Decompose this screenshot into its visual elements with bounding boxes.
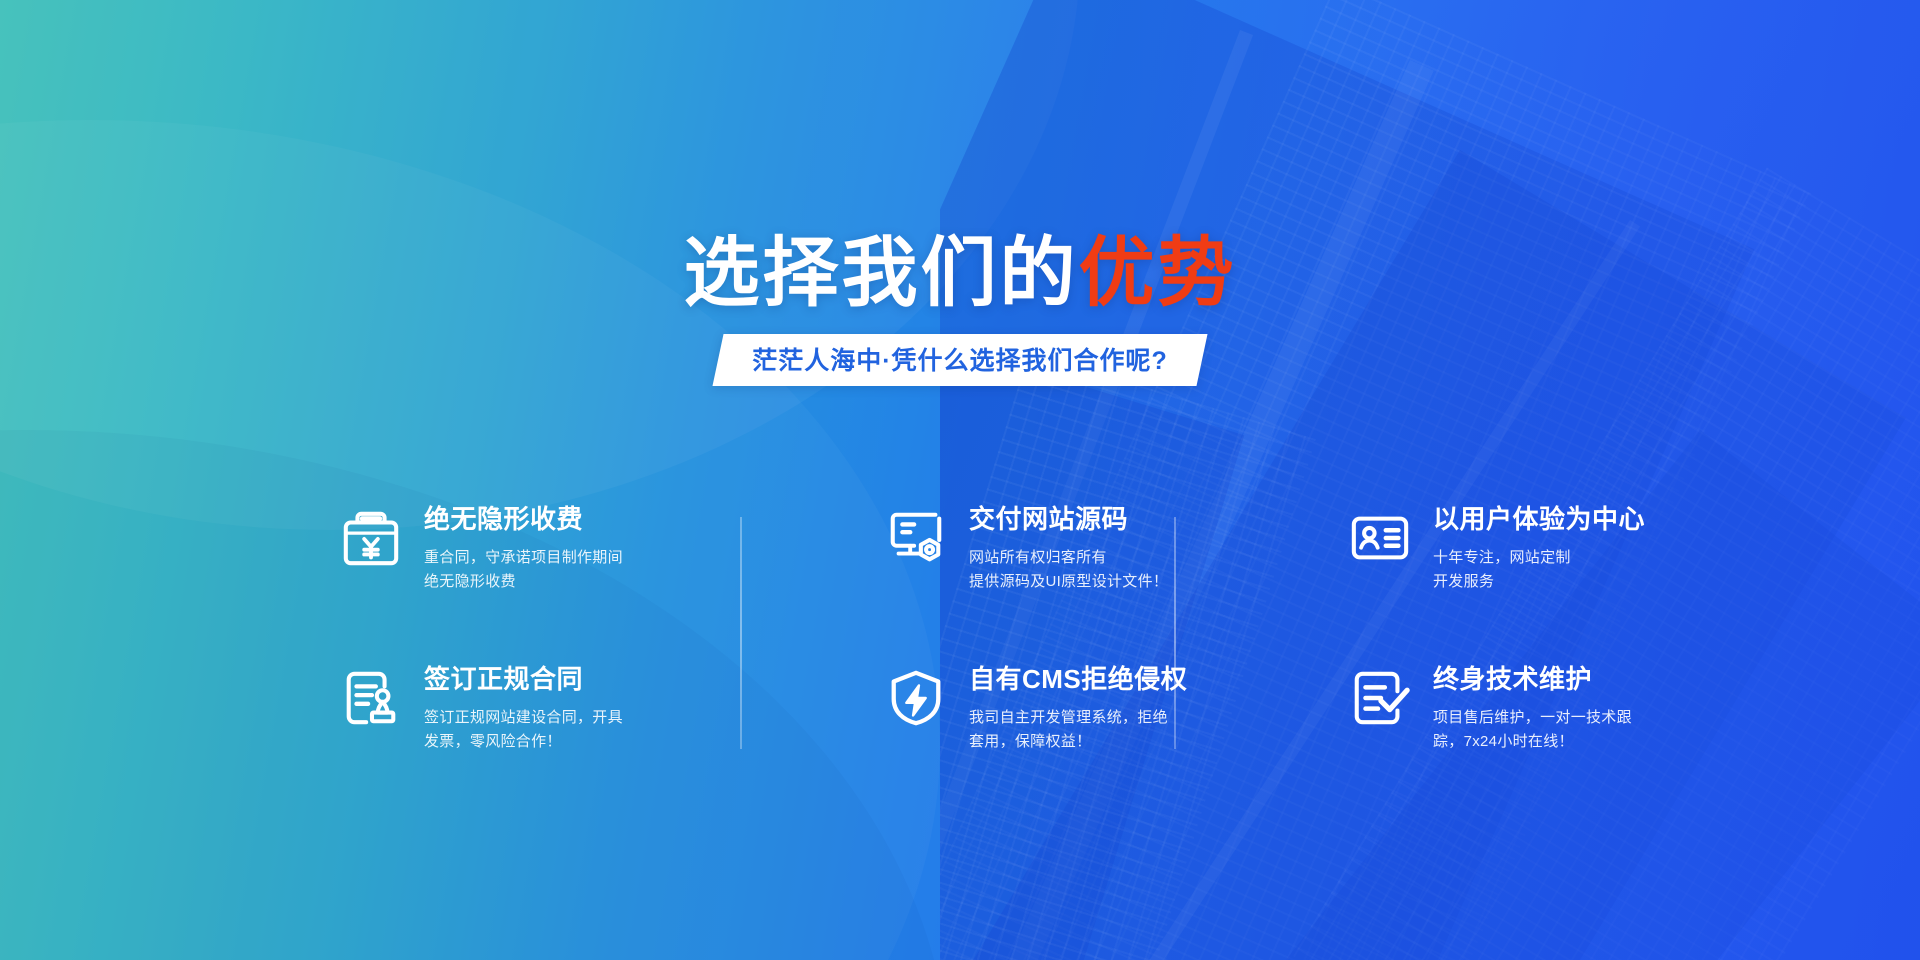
page-title-main: 选择我们的 <box>684 231 1079 316</box>
feature-desc: 签订正规网站建设合同，开具 发票，零风险合作！ <box>424 706 623 755</box>
subtitle-ribbon-wrap: 茫茫人海中·凭什么选择我们合作呢? <box>0 334 1920 386</box>
feature-desc: 十年专注，网站定制 开发服务 <box>1433 546 1645 595</box>
feature-item-no-hidden-fees[interactable]: 绝无隐形收费 重合同，守承诺项目制作期间 绝无隐形收费 <box>340 495 770 655</box>
feature-title: 自有CMS拒绝侵权 <box>969 665 1187 695</box>
feature-desc-line-1: 我司自主开发管理系统，拒绝 <box>969 706 1187 730</box>
toolbox-yen-icon <box>340 507 402 569</box>
feature-desc-line-2: 开发服务 <box>1433 570 1645 594</box>
page-title: 选择我们的优势 <box>0 236 1920 312</box>
page-title-accent: 优势 <box>1079 231 1237 316</box>
feature-text: 以用户体验为中心 十年专注，网站定制 开发服务 <box>1433 503 1645 594</box>
feature-desc: 网站所有权归客所有 提供源码及UI原型设计文件！ <box>969 546 1168 595</box>
feature-text: 签订正规合同 签订正规网站建设合同，开具 发票，零风险合作！ <box>424 663 623 754</box>
checklist-check-icon <box>1349 667 1411 729</box>
feature-title: 交付网站源码 <box>969 505 1168 535</box>
heading-block: 选择我们的优势 茫茫人海中·凭什么选择我们合作呢? <box>0 236 1920 386</box>
feature-desc: 重合同，守承诺项目制作期间 绝无隐形收费 <box>424 546 623 595</box>
feature-desc-line-2: 发票，零风险合作！ <box>424 730 623 754</box>
feature-title: 以用户体验为中心 <box>1433 505 1645 535</box>
feature-desc-line-2: 套用，保障权益！ <box>969 730 1187 754</box>
feature-desc-line-2: 提供源码及UI原型设计文件！ <box>969 570 1168 594</box>
feature-desc-line-1: 项目售后维护，一对一技术跟 <box>1433 706 1632 730</box>
feature-item-user-experience-centric[interactable]: 以用户体验为中心 十年专注，网站定制 开发服务 <box>1204 495 1640 655</box>
feature-title: 终身技术维护 <box>1433 665 1632 695</box>
photo-blue-tint-overlay <box>940 0 1920 960</box>
features-grid: 绝无隐形收费 重合同，守承诺项目制作期间 绝无隐形收费 <box>340 495 1640 815</box>
feature-desc-line-2: 绝无隐形收费 <box>424 570 623 594</box>
feature-text: 绝无隐形收费 重合同，守承诺项目制作期间 绝无隐形收费 <box>424 503 623 594</box>
document-stamp-icon <box>340 667 402 729</box>
skyscraper-background-image <box>940 0 1920 960</box>
feature-title: 绝无隐形收费 <box>424 505 623 535</box>
feature-title: 签订正规合同 <box>424 665 623 695</box>
feature-text: 终身技术维护 项目售后维护，一对一技术跟 踪，7x24小时在线！ <box>1433 663 1632 754</box>
feature-item-own-cms[interactable]: 自有CMS拒绝侵权 我司自主开发管理系统，拒绝 套用，保障权益！ <box>770 655 1204 815</box>
feature-item-lifetime-maintenance[interactable]: 终身技术维护 项目售后维护，一对一技术跟 踪，7x24小时在线！ <box>1204 655 1640 815</box>
feature-item-formal-contract[interactable]: 签订正规合同 签订正规网站建设合同，开具 发票，零风险合作！ <box>340 655 770 815</box>
shield-bolt-icon <box>885 667 947 729</box>
feature-desc-line-1: 重合同，守承诺项目制作期间 <box>424 546 623 570</box>
feature-desc-line-1: 网站所有权归客所有 <box>969 546 1168 570</box>
advantages-banner: 选择我们的优势 茫茫人海中·凭什么选择我们合作呢? 绝无隐形收费 <box>0 0 1920 960</box>
subtitle-ribbon: 茫茫人海中·凭什么选择我们合作呢? <box>713 334 1208 386</box>
feature-desc-line-2: 踪，7x24小时在线！ <box>1433 730 1632 754</box>
feature-desc: 我司自主开发管理系统，拒绝 套用，保障权益！ <box>969 706 1187 755</box>
feature-text: 交付网站源码 网站所有权归客所有 提供源码及UI原型设计文件！ <box>969 503 1168 594</box>
feature-desc-line-1: 十年专注，网站定制 <box>1433 546 1645 570</box>
feature-desc-line-1: 签订正规网站建设合同，开具 <box>424 706 623 730</box>
page-subtitle: 茫茫人海中·凭什么选择我们合作呢? <box>752 341 1168 377</box>
feature-text: 自有CMS拒绝侵权 我司自主开发管理系统，拒绝 套用，保障权益！ <box>969 663 1187 754</box>
id-card-icon <box>1349 507 1411 569</box>
monitor-gear-icon <box>885 507 947 569</box>
feature-item-deliver-source-code[interactable]: 交付网站源码 网站所有权归客所有 提供源码及UI原型设计文件！ <box>770 495 1204 655</box>
feature-desc: 项目售后维护，一对一技术跟 踪，7x24小时在线！ <box>1433 706 1632 755</box>
